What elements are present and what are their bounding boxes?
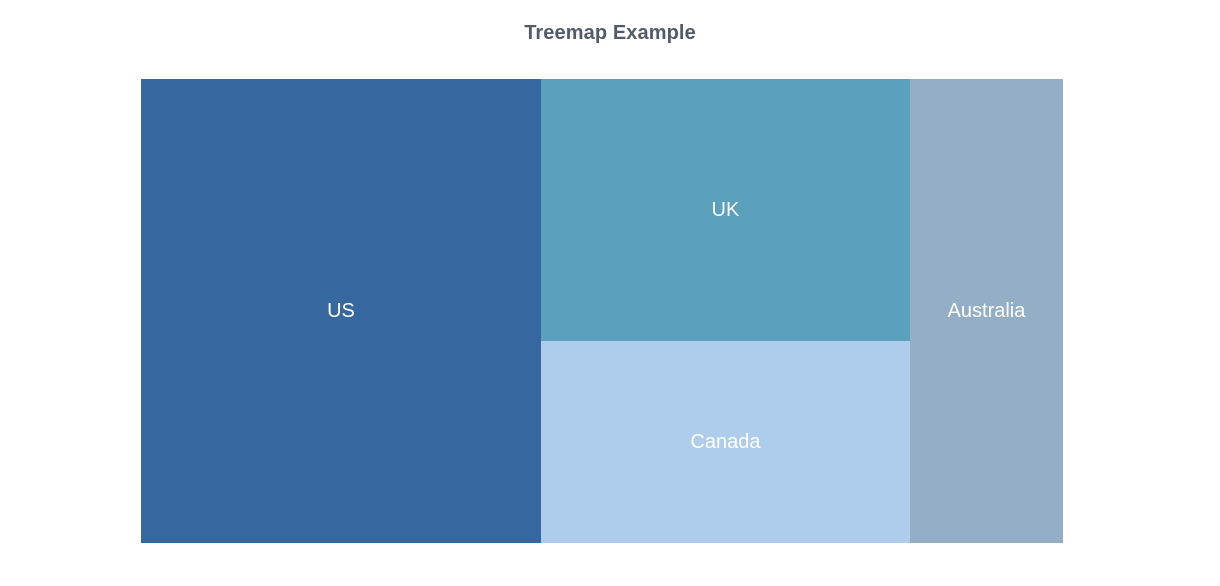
treemap-chart: Treemap Example US UK Canada Australia — [0, 0, 1220, 586]
treemap-tile-australia[interactable]: Australia — [910, 79, 1063, 543]
treemap-tile-uk[interactable]: UK — [541, 79, 910, 341]
treemap-tile-label: Australia — [948, 299, 1026, 323]
treemap-tile-label: Canada — [690, 430, 760, 454]
chart-title: Treemap Example — [0, 19, 1220, 47]
treemap-plot-area: US UK Canada Australia — [141, 79, 1063, 543]
treemap-tile-us[interactable]: US — [141, 79, 541, 543]
treemap-tile-label: UK — [712, 198, 740, 222]
treemap-tile-label: US — [327, 299, 355, 323]
treemap-tile-canada[interactable]: Canada — [541, 341, 910, 543]
